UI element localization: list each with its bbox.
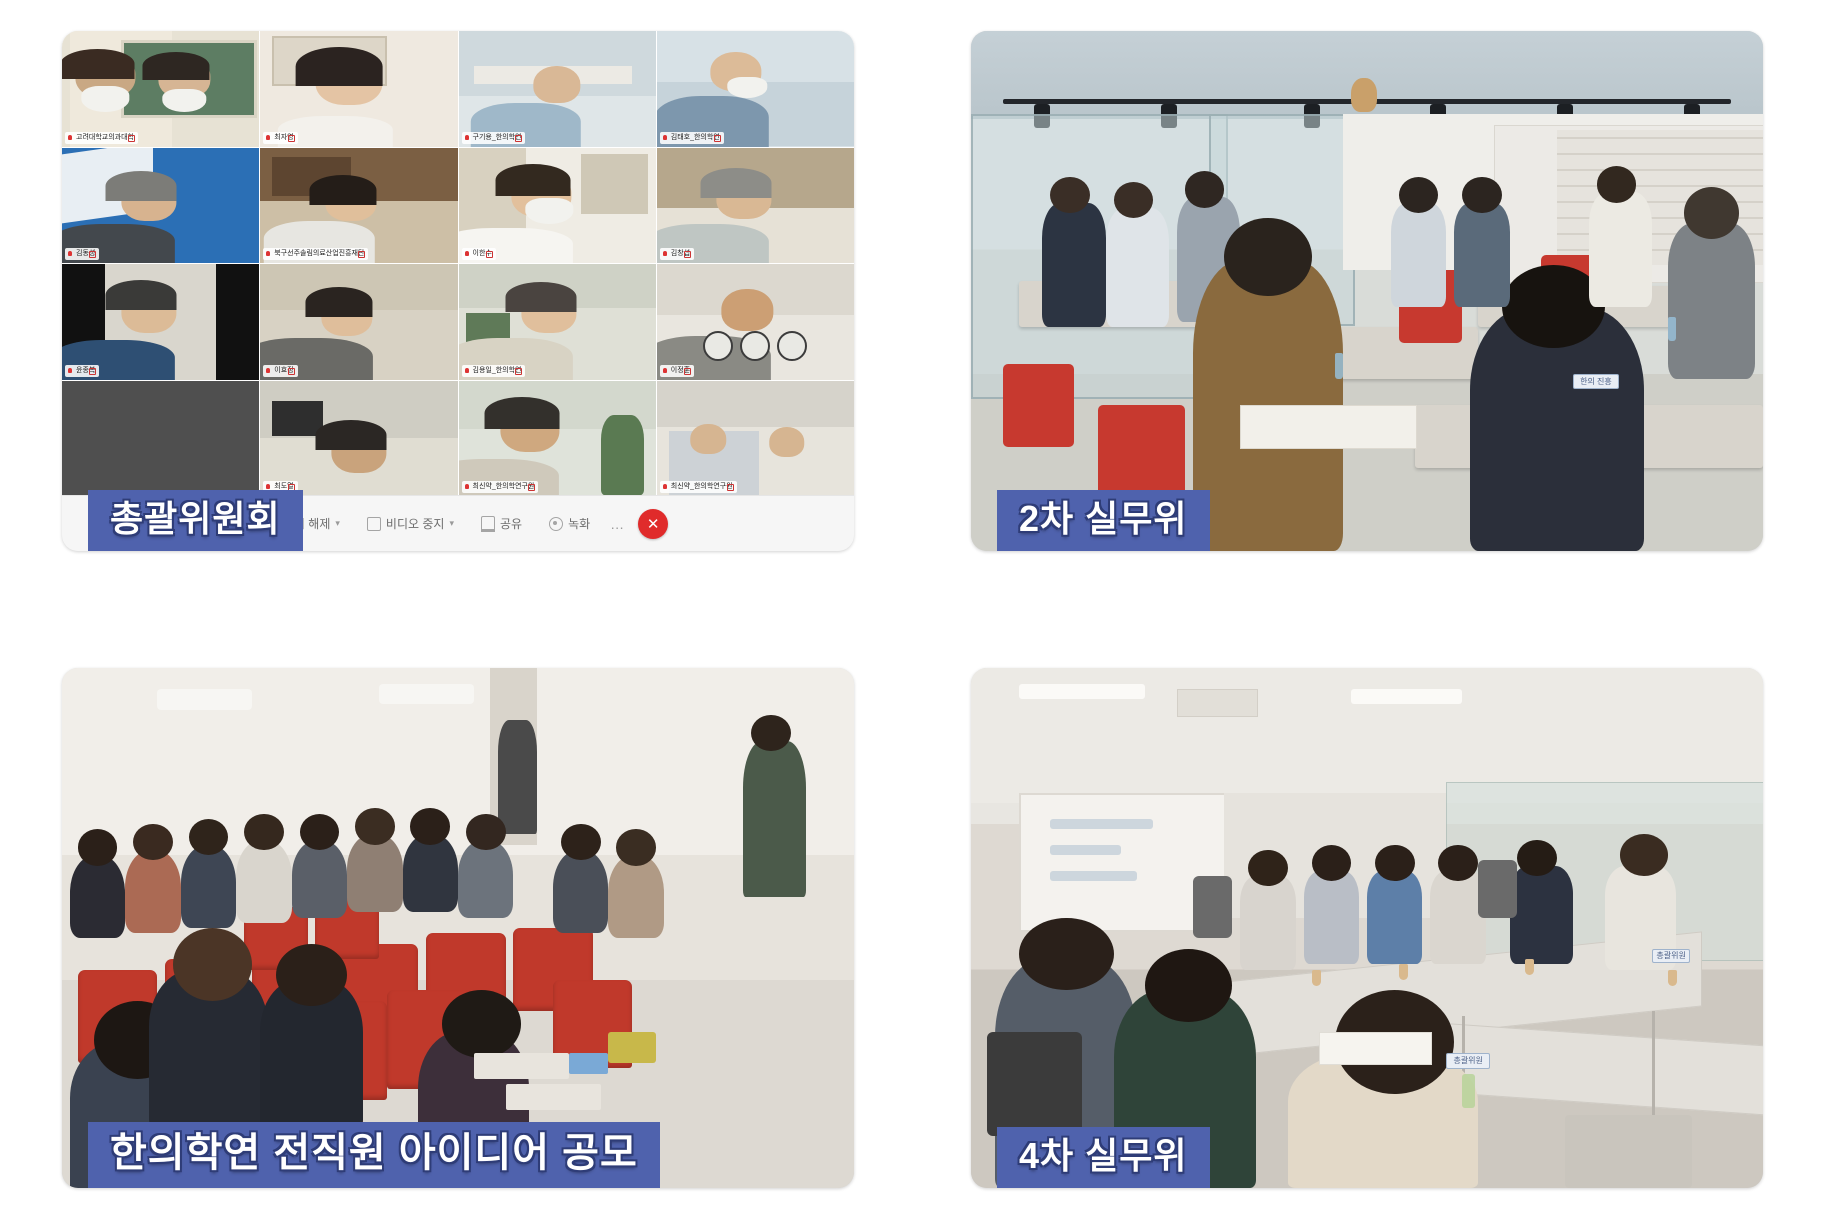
audience-member [236, 840, 291, 923]
water-bottle [1335, 353, 1343, 379]
coffee-cup [1525, 959, 1534, 975]
zoom-video-label: 비디오 중지 [386, 515, 445, 532]
audience-member [553, 850, 608, 933]
whiteboard-note [1050, 845, 1121, 855]
side-table [474, 1053, 569, 1079]
zoom-tile[interactable]: 김태호_한의학연 [657, 31, 854, 147]
attendee-head [1145, 949, 1232, 1022]
attendee [1454, 203, 1509, 307]
zoom-tile[interactable]: 최자영 [260, 31, 457, 147]
zoom-record-label: 녹화 [568, 515, 590, 532]
attendee [1304, 871, 1359, 965]
photo-card-2cha[interactable]: 한의 진흥 2차 실무위 [971, 31, 1763, 551]
office-chair [1478, 860, 1518, 917]
desk-nameplate: 총괄위원 [1652, 949, 1690, 963]
bag [608, 1032, 656, 1063]
whiteboard-note [1050, 819, 1153, 829]
zoom-participant-name: 최신약_한의학연구원 [660, 481, 737, 493]
audience-head [173, 928, 252, 1001]
attendee-head [1114, 182, 1154, 218]
zoom-participant-name: 이정훈 [660, 365, 694, 377]
presenter [743, 741, 806, 897]
photo-label-badge: 2차 실무위 [997, 490, 1210, 551]
zoom-meeting-screenshot: 고려대학교의과대학 최자영 구기용_한의학연 [62, 31, 854, 551]
desk-nameplate: 총괄위원 [1446, 1053, 1490, 1069]
zoom-participant-name: 윤종복 [65, 365, 99, 377]
audience-head [300, 814, 340, 850]
whiteboard-note [1050, 871, 1137, 881]
side-table [506, 1084, 601, 1110]
photo-card-chonggwal[interactable]: 고려대학교의과대학 최자영 구기용_한의학연 [62, 31, 854, 551]
attendee-head [1224, 218, 1311, 296]
zoom-tile[interactable]: 윤종복 [62, 264, 259, 380]
water-bottle [569, 1053, 609, 1074]
zoom-participant-name: 김태호_한의학연 [660, 132, 724, 144]
zoom-participant-name: 최신약_한의학연구원 [462, 481, 539, 493]
audience-member [458, 840, 513, 918]
audience-head [561, 824, 601, 860]
zoom-participant-name: 김창섭 [660, 248, 694, 260]
audience-member [125, 850, 180, 933]
audience-member [608, 855, 663, 938]
attendee [1589, 192, 1652, 306]
zoom-share-button[interactable]: 공유 [474, 512, 529, 535]
photo-collage: 고려대학교의과대학 최자영 구기용_한의학연 [0, 0, 1825, 1219]
camera-icon [367, 517, 381, 531]
attendee-head [1375, 845, 1415, 881]
attendee [1510, 866, 1573, 965]
deer-head-decoration [1351, 78, 1377, 112]
zoom-participant-name: 김동성 [65, 248, 99, 260]
zoom-tile[interactable]: 구기용_한의학연 [459, 31, 656, 147]
attendee [1106, 208, 1169, 328]
zoom-tile[interactable]: 김창섭 [657, 148, 854, 264]
zoom-participant-name: 북구선주솔림의료산업진흥재단 [263, 248, 368, 260]
coffee-cup [1668, 970, 1677, 986]
zoom-participant-grid: 고려대학교의과대학 최자영 구기용_한의학연 [62, 31, 854, 496]
zoom-end-meeting-button[interactable]: ✕ [638, 509, 668, 539]
photo-card-4cha[interactable]: 총괄위원 총괄위원 4차 실무위 [971, 668, 1763, 1188]
audience-head [410, 808, 450, 844]
zoom-video-button[interactable]: 비디오 중지 ▾ [360, 512, 461, 535]
ceiling-light [1351, 689, 1462, 705]
zoom-record-button[interactable]: 녹화 [542, 512, 597, 535]
zoom-tile[interactable]: 이효정 [260, 264, 457, 380]
audience-member [292, 840, 347, 918]
red-chair [1003, 364, 1074, 447]
zoom-tile[interactable]: 김동성 [62, 148, 259, 264]
conference-room-photo: 총괄위원 총괄위원 [971, 668, 1763, 1188]
zoom-more-options-icon[interactable] [703, 331, 807, 361]
auditorium-photo [62, 668, 854, 1188]
ceiling-vent [1177, 689, 1258, 717]
photo-label-badge: 총괄위원회 [88, 490, 303, 551]
audience-head [616, 829, 656, 865]
audience-head [244, 814, 284, 850]
presenter-head [751, 715, 791, 751]
attendee [1668, 223, 1755, 379]
attendee-head [1019, 918, 1114, 991]
desk-nameplate: 한의 진흥 [1573, 374, 1619, 389]
audience-head [133, 824, 173, 860]
audience-member [347, 834, 402, 912]
office-meeting-photo: 한의 진흥 [971, 31, 1763, 551]
audience-head [276, 944, 347, 1006]
zoom-tile[interactable]: 고려대학교의과대학 [62, 31, 259, 147]
audience-member [403, 834, 458, 912]
record-icon [549, 517, 563, 531]
documents [1319, 1032, 1432, 1065]
attendee-head [1597, 166, 1637, 202]
coffee-cup [1399, 964, 1408, 980]
zoom-tile[interactable]: 최신약_한의학연구원 [459, 381, 656, 497]
zoom-participant-name: 구기용_한의학연 [462, 132, 526, 144]
zoom-tile[interactable]: 북구선주솔림의료산업진흥재단 [260, 148, 457, 264]
zoom-tile[interactable]: 최신약_한의학연구원 [657, 381, 854, 497]
audience-head [466, 814, 506, 850]
table-leg [1652, 1011, 1655, 1115]
attendee [1367, 871, 1422, 965]
zoom-participant-name: 최자영 [263, 132, 297, 144]
attendee-head [1248, 850, 1288, 886]
photo-label-badge: 4차 실무위 [997, 1127, 1210, 1188]
attendee-head [1399, 177, 1439, 213]
attendee-head [1462, 177, 1502, 213]
audience-head [355, 808, 395, 844]
attendee-head [1312, 845, 1352, 881]
photo-label-badge: 한의학연 전직원 아이디어 공모 [88, 1122, 660, 1188]
zoom-tile-empty[interactable] [62, 381, 259, 497]
attendee-head [1438, 845, 1478, 881]
zoom-more-button[interactable]: … [610, 516, 625, 532]
audience-head [442, 990, 521, 1058]
office-chair [1565, 1115, 1692, 1188]
audience-member [181, 845, 236, 928]
zoom-share-label: 공유 [500, 515, 522, 532]
zoom-participant-name: 고려대학교의과대학 [65, 132, 138, 144]
attendee-head [1620, 834, 1668, 876]
zoom-tile[interactable]: 최도열 [260, 381, 457, 497]
zoom-participant-name: 이한수 [462, 248, 496, 260]
zoom-participant-name: 김용일_한의학연 [462, 365, 526, 377]
attendee-head [1050, 177, 1090, 213]
ceiling-light [157, 689, 252, 710]
attendee-head [1185, 171, 1225, 207]
coffee-cup [1312, 970, 1321, 986]
attendee [1391, 203, 1446, 307]
office-chair [1193, 876, 1233, 938]
chevron-down-icon[interactable]: ▾ [335, 518, 340, 529]
documents [1240, 405, 1416, 449]
attendee [1042, 203, 1105, 328]
attendee [498, 720, 538, 834]
audience-member [70, 855, 125, 938]
chevron-down-icon[interactable]: ▾ [449, 518, 454, 529]
share-screen-icon [481, 516, 495, 532]
office-chair [987, 1032, 1082, 1136]
water-bottle [1462, 1074, 1475, 1108]
attendee [1240, 876, 1295, 970]
ceiling-light [379, 684, 474, 705]
zoom-tile[interactable]: 김용일_한의학연 [459, 264, 656, 380]
zoom-participant-name: 이효정 [263, 365, 297, 377]
photo-card-idea[interactable]: 한의학연 전직원 아이디어 공모 [62, 668, 854, 1188]
zoom-tile-with-controls[interactable]: 이정훈 [657, 264, 854, 380]
audience-head [78, 829, 118, 865]
zoom-tile[interactable]: 이한수 [459, 148, 656, 264]
water-bottle [1668, 317, 1676, 341]
attendee-head [1517, 840, 1557, 876]
ceiling-light [1019, 684, 1146, 700]
attendee-head [1684, 187, 1739, 239]
